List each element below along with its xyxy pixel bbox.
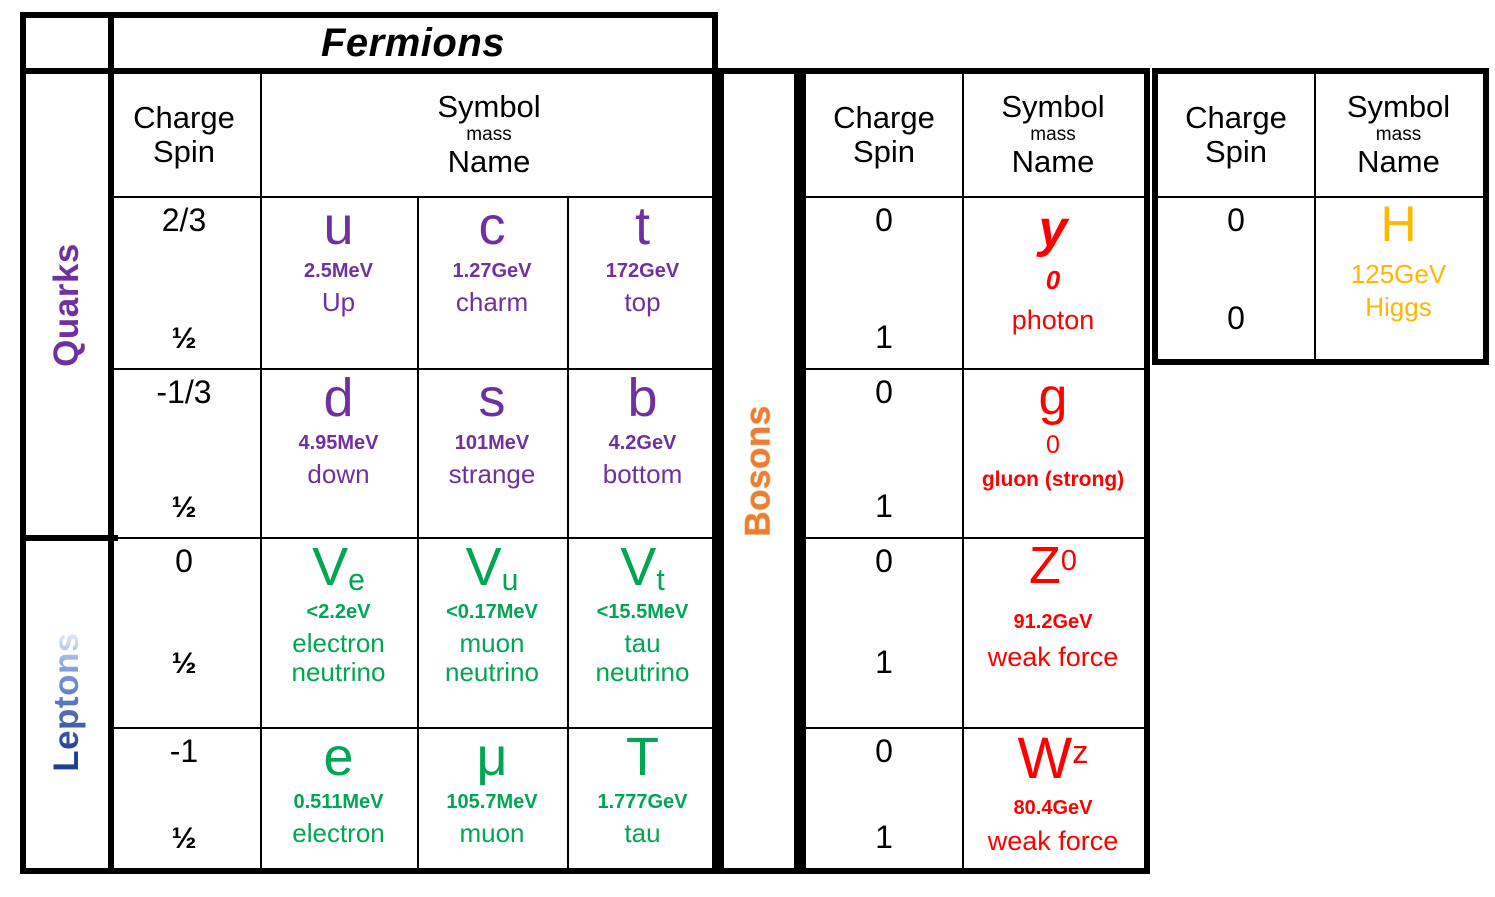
higgs-row-0-charge-spin: 0 0 — [1158, 196, 1314, 359]
particle-name-w-boson: weak force — [988, 826, 1119, 856]
particle-name-muon: muon — [459, 819, 524, 848]
particle-mass-photon: 0 — [1046, 267, 1060, 293]
fermions-title: Fermions — [114, 18, 712, 68]
fermions-header-spin-label: Spin — [133, 136, 235, 169]
group-label-leptons: Leptons — [26, 535, 108, 868]
particle-superscript-z-boson: 0 — [1061, 545, 1077, 577]
bosons-grid: Charge Spin Symbol mass Name 0 1 y 0 pho… — [800, 68, 1150, 874]
higgs-header-charge-spin: Charge Spin — [1158, 74, 1314, 196]
particle-name-tau-neutrino: tau neutrino — [596, 629, 690, 687]
particle-cell-muon: μ 105.7MeV muon — [417, 727, 567, 868]
standard-model-table: Fermions Quarks Leptons Charge Spin — [0, 0, 1495, 897]
particle-mass-tau-neutrino: <15.5MeV — [597, 602, 689, 622]
particle-cell-tau: Τ 1.777GeV tau — [567, 727, 718, 868]
fermions-header-symbol: Symbol mass Name — [260, 74, 718, 196]
particle-mass-muon-neutrino: <0.17MeV — [446, 602, 538, 622]
particle-symbol-down: d — [323, 370, 353, 427]
bosons-row-2-charge: 0 — [875, 543, 893, 580]
particle-symbol-muon-neutrino: V — [466, 537, 502, 597]
particle-symbol-bottom: b — [627, 370, 657, 427]
bosons-row-2-charge-spin: 0 1 — [806, 537, 962, 727]
particle-cell-photon: y 0 photon — [962, 196, 1144, 368]
particle-mass-muon: 105.7MeV — [446, 792, 537, 812]
particle-subscript-electron-neutrino: e — [348, 564, 365, 597]
particle-name-bottom: bottom — [603, 460, 683, 489]
bosons-header-name-label: Name — [1001, 146, 1104, 179]
bosons-row-3-spin: 1 — [875, 819, 893, 856]
higgs-header-spin-label: Spin — [1185, 136, 1287, 169]
particle-mass-electron-neutrino: <2.2eV — [307, 602, 371, 622]
particle-cell-top: t 172GeV top — [567, 196, 718, 368]
particle-symbol-gluon: g — [1039, 370, 1068, 425]
fermions-row-2-charge-spin: 0 ½ — [108, 537, 260, 727]
fermions-corner-box — [20, 12, 114, 74]
particle-symbol-muon: μ — [476, 729, 507, 786]
particle-cell-higgs: H 125GeV Higgs — [1314, 196, 1483, 359]
bosons-header-symbol: Symbol mass Name — [962, 74, 1144, 196]
fermions-row-0-spin: ½ — [171, 322, 196, 356]
particle-cell-w-boson: Wz 80.4GeV weak force — [962, 727, 1144, 868]
particle-symbol-up: u — [323, 198, 353, 255]
bosons-row-3-charge: 0 — [875, 733, 893, 770]
bosons-row-0-charge: 0 — [875, 202, 893, 239]
group-label-quarks: Quarks — [26, 74, 108, 535]
bosons-row-1-charge: 0 — [875, 374, 893, 411]
particle-symbol-tau-neutrino: V — [620, 537, 656, 597]
group-label-bosons-text: Bosons — [739, 405, 779, 536]
bosons-row-0-charge-spin: 0 1 — [806, 196, 962, 368]
particle-name-gluon: gluon (strong) — [982, 468, 1124, 492]
particle-name-strange: strange — [449, 460, 536, 489]
fermions-grid: Quarks Leptons Charge Spin Symbol mass N… — [20, 68, 718, 874]
fermions-row-1-charge: -1/3 — [156, 374, 211, 411]
particle-name-photon: photon — [1012, 305, 1095, 335]
higgs-header-symbol-label: Symbol — [1347, 91, 1450, 124]
particle-mass-z-boson: 91.2GeV — [1014, 612, 1093, 632]
fermions-header-charge-label: Charge — [133, 102, 235, 135]
particle-cell-tau-neutrino: Vt <15.5MeV tau neutrino — [567, 537, 718, 727]
particle-mass-strange: 101MeV — [455, 433, 530, 453]
particle-cell-up: u 2.5MeV Up — [260, 196, 417, 368]
group-label-bosons: Bosons — [724, 74, 794, 868]
particle-cell-gluon: g 0 gluon (strong) — [962, 368, 1144, 537]
bosons-header-spin-label: Spin — [833, 136, 935, 169]
group-label-leptons-text: Leptons — [47, 632, 87, 772]
particle-symbol-tau: Τ — [626, 729, 659, 786]
fermions-row-3-charge: -1 — [170, 733, 198, 770]
particle-mass-w-boson: 80.4GeV — [1014, 798, 1093, 818]
fermions-row-3-charge-spin: -1 ½ — [108, 727, 260, 868]
particle-name-z-boson: weak force — [988, 642, 1119, 672]
particle-name-up: Up — [322, 288, 355, 317]
particle-mass-charm: 1.27GeV — [453, 261, 532, 281]
particle-symbol-charm: c — [479, 198, 506, 255]
particle-cell-strange: s 101MeV strange — [417, 368, 567, 537]
particle-cell-electron-neutrino: Ve <2.2eV electron neutrino — [260, 537, 417, 727]
bosons-header-mass-label: mass — [1001, 125, 1104, 145]
particle-name-tau: tau — [624, 819, 660, 848]
bosons-label-block: Bosons — [718, 68, 800, 874]
particle-cell-z-boson: Z0 91.2GeV weak force — [962, 537, 1144, 727]
bosons-row-1-spin: 1 — [875, 488, 893, 525]
fermions-header-name-label: Name — [437, 146, 540, 179]
particle-superscript-w-boson: z — [1072, 734, 1088, 770]
fermions-title-block: Fermions — [108, 12, 718, 74]
fermions-row-0-charge-spin: 2/3 ½ — [108, 196, 260, 368]
higgs-header-symbol: Symbol mass Name — [1314, 74, 1483, 196]
particle-name-higgs: Higgs — [1365, 293, 1431, 322]
bosons-row-3-charge-spin: 0 1 — [806, 727, 962, 868]
particle-name-down: down — [307, 460, 369, 489]
fermions-row-1-charge-spin: -1/3 ½ — [108, 368, 260, 537]
fermions-row-3-spin: ½ — [171, 822, 196, 856]
bosons-row-1-charge-spin: 0 1 — [806, 368, 962, 537]
fermions-row-2-charge: 0 — [175, 543, 193, 580]
higgs-header-charge-label: Charge — [1185, 102, 1287, 135]
particle-name-electron-neutrino: electron neutrino — [292, 629, 386, 687]
bosons-header-symbol-label: Symbol — [1001, 91, 1104, 124]
fermions-row-0-charge: 2/3 — [162, 202, 206, 239]
particle-mass-up: 2.5MeV — [304, 261, 373, 281]
fermions-header-charge-spin: Charge Spin — [108, 74, 260, 196]
bosons-row-0-spin: 1 — [875, 319, 893, 356]
particle-symbol-electron-neutrino: V — [312, 537, 348, 597]
group-label-quarks-text: Quarks — [47, 243, 87, 367]
particle-name-top: top — [624, 288, 660, 317]
bosons-row-2-spin: 1 — [875, 644, 893, 681]
particle-subscript-muon-neutrino: u — [502, 564, 519, 597]
higgs-header-name-label: Name — [1347, 146, 1450, 179]
particle-cell-charm: c 1.27GeV charm — [417, 196, 567, 368]
particle-cell-muon-neutrino: Vu <0.17MeV muon neutrino — [417, 537, 567, 727]
fermions-header-symbol-label: Symbol — [437, 91, 540, 124]
bosons-header-charge-spin: Charge Spin — [806, 74, 962, 196]
fermions-row-1-spin: ½ — [171, 491, 196, 525]
particle-symbol-z-boson: Z — [1029, 537, 1061, 595]
fermions-row-2-spin: ½ — [171, 647, 196, 681]
particle-symbol-electron: e — [323, 729, 353, 786]
particle-symbol-higgs: H — [1380, 198, 1416, 251]
particle-name-electron: electron — [292, 819, 385, 848]
particle-mass-top: 172GeV — [606, 261, 679, 281]
bosons-header-charge-label: Charge — [833, 102, 935, 135]
higgs-row-0-charge: 0 — [1227, 202, 1245, 239]
particle-mass-bottom: 4.2GeV — [609, 433, 677, 453]
higgs-header-mass-label: mass — [1347, 125, 1450, 145]
particle-symbol-strange: s — [479, 370, 506, 427]
particle-symbol-top: t — [635, 198, 650, 255]
particle-name-muon-neutrino: muon neutrino — [445, 629, 539, 687]
particle-cell-down: d 4.95MeV down — [260, 368, 417, 537]
particle-mass-higgs: 125GeV — [1351, 261, 1446, 287]
particle-mass-electron: 0.511MeV — [293, 792, 383, 812]
particle-mass-gluon: 0 — [1046, 433, 1060, 458]
particle-symbol-w-boson: W — [1018, 726, 1073, 791]
particle-mass-down: 4.95MeV — [298, 433, 378, 453]
particle-cell-electron: e 0.511MeV electron — [260, 727, 417, 868]
higgs-row-0-spin: 0 — [1227, 300, 1245, 337]
fermions-header-mass-label: mass — [437, 125, 540, 145]
particle-name-charm: charm — [456, 288, 528, 317]
particle-symbol-photon: y — [1039, 202, 1068, 257]
particle-subscript-tau-neutrino: t — [656, 564, 664, 597]
particle-cell-bottom: b 4.2GeV bottom — [567, 368, 718, 537]
particle-mass-tau: 1.777GeV — [597, 792, 687, 812]
higgs-grid: Charge Spin Symbol mass Name 0 0 H 125Ge… — [1152, 68, 1489, 365]
